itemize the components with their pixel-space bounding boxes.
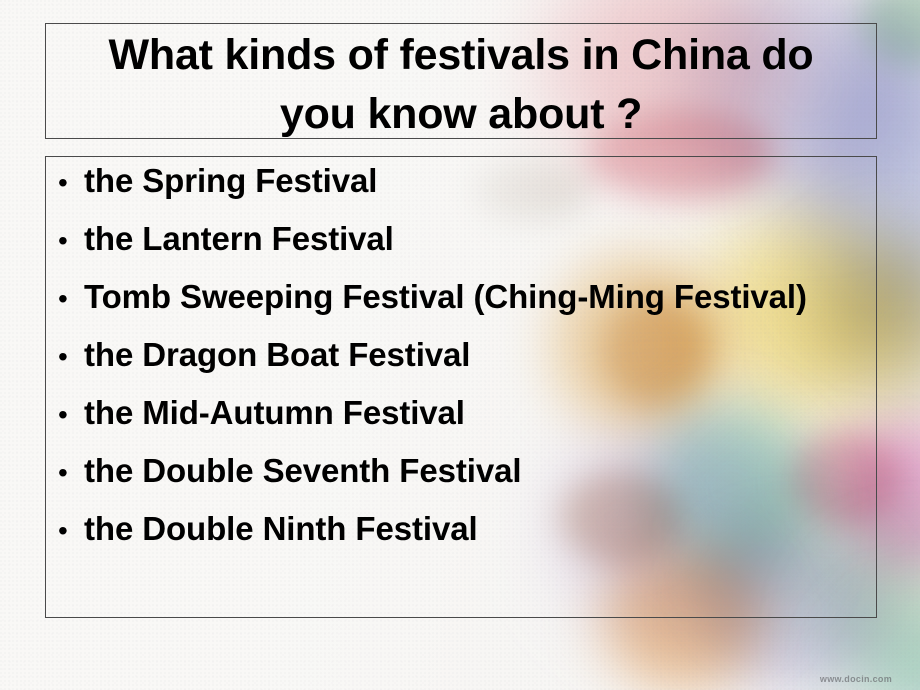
list-item-label: the Lantern Festival xyxy=(84,222,877,255)
list-item: • the Double Ninth Festival xyxy=(45,512,877,570)
list-item-label: the Dragon Boat Festival xyxy=(84,338,877,371)
list-item-label: the Mid-Autumn Festival xyxy=(84,396,877,429)
bullet-dot-icon: • xyxy=(58,401,84,429)
list-item: • the Mid-Autumn Festival xyxy=(45,396,877,454)
list-item: • the Double Seventh Festival xyxy=(45,454,877,512)
festival-list: • the Spring Festival • the Lantern Fest… xyxy=(45,164,877,570)
list-item-label: the Double Seventh Festival xyxy=(84,454,877,487)
slide-canvas: What kinds of festivals in China do you … xyxy=(0,0,920,690)
page-title: What kinds of festivals in China do you … xyxy=(45,26,877,145)
bullet-dot-icon: • xyxy=(58,227,84,255)
list-item: • the Dragon Boat Festival xyxy=(45,338,877,396)
bullet-dot-icon: • xyxy=(58,285,84,313)
list-item-label: Tomb Sweeping Festival (Ching-Ming Festi… xyxy=(84,280,877,313)
list-item: • the Lantern Festival xyxy=(45,222,877,280)
bullet-dot-icon: • xyxy=(58,343,84,371)
bullet-dot-icon: • xyxy=(58,169,84,197)
list-item: • the Spring Festival xyxy=(45,164,877,222)
bullet-dot-icon: • xyxy=(58,459,84,487)
list-item: • Tomb Sweeping Festival (Ching-Ming Fes… xyxy=(45,280,877,338)
bullet-dot-icon: • xyxy=(58,517,84,545)
list-item-label: the Double Ninth Festival xyxy=(84,512,877,545)
source-watermark: www.docin.com xyxy=(820,674,892,684)
list-item-label: the Spring Festival xyxy=(84,164,877,197)
